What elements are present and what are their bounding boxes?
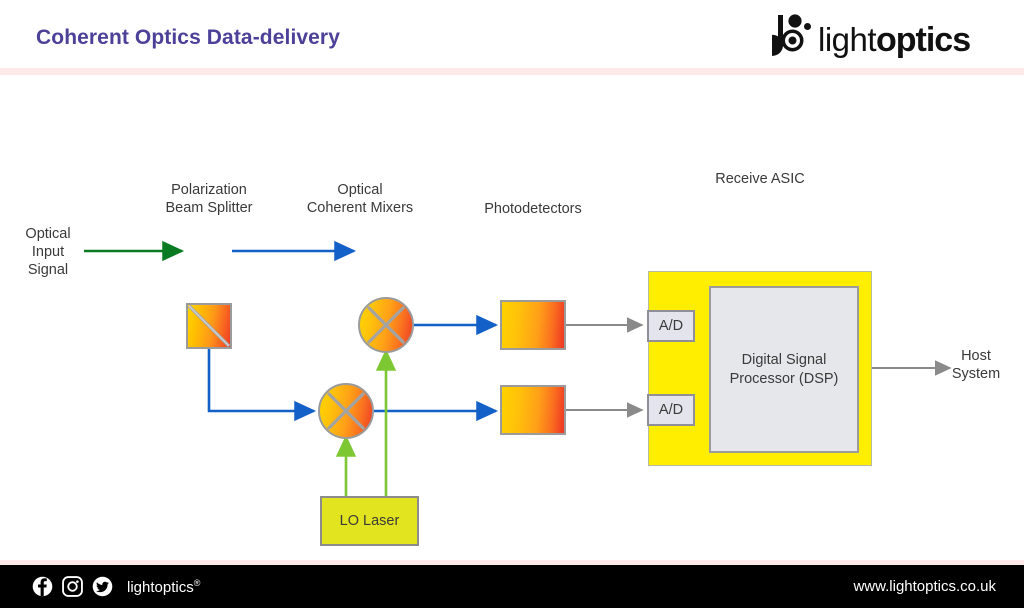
twitter-icon[interactable] — [92, 576, 113, 597]
label-optical-input: Optical Input Signal — [12, 225, 84, 279]
label-photodetectors: Photodetectors — [468, 200, 598, 218]
polarization-beam-splitter-block[interactable] — [186, 303, 232, 349]
optical-coherent-mixer-1[interactable] — [358, 297, 414, 353]
ad-converter-2-label: A/D — [659, 402, 683, 418]
edge-lower-branch — [209, 349, 314, 411]
lo-laser-label: LO Laser — [340, 513, 400, 529]
lightoptics-logo-svg: light optics — [772, 13, 1000, 59]
beam-splitter-diagonal-icon — [188, 305, 230, 347]
mixer-cross-icon — [318, 383, 374, 439]
footer-brand-mark: ® — [194, 578, 201, 588]
svg-text:light: light — [818, 21, 876, 58]
photodetector-2[interactable] — [500, 385, 566, 435]
label-polarization-beam-splitter: Polarization Beam Splitter — [139, 181, 279, 217]
header-divider — [0, 68, 1024, 75]
optical-coherent-mixer-2[interactable] — [318, 383, 374, 439]
footer-website-url[interactable]: www.lightoptics.co.uk — [853, 565, 996, 608]
dsp-block[interactable]: Digital Signal Processor (DSP) — [709, 286, 859, 453]
ad-converter-1-label: A/D — [659, 318, 683, 334]
instagram-icon[interactable] — [62, 576, 83, 597]
ad-converter-1[interactable]: A/D — [647, 310, 695, 342]
lo-laser-block[interactable]: LO Laser — [320, 496, 419, 546]
receive-asic-block[interactable]: Digital Signal Processor (DSP) — [648, 271, 872, 466]
label-optical-coherent-mixers: Optical Coherent Mixers — [285, 181, 435, 217]
label-receive-asic: Receive ASIC — [690, 170, 830, 188]
photodetector-1[interactable] — [500, 300, 566, 350]
svg-text:optics: optics — [876, 21, 970, 59]
ad-converter-2[interactable]: A/D — [647, 394, 695, 426]
label-host-system: Host System — [940, 347, 1012, 383]
brand-logo: light optics — [772, 12, 1000, 60]
diagram-canvas: Optical Input Signal Polarization Beam S… — [0, 75, 1024, 560]
facebook-icon[interactable] — [32, 576, 53, 597]
footer-brand-text: lightoptics — [127, 579, 194, 596]
page-title: Coherent Optics Data-delivery — [36, 26, 340, 50]
dsp-label: Digital Signal Processor (DSP) — [730, 351, 839, 389]
footer-brand: lightoptics® — [127, 578, 200, 596]
page-header: Coherent Optics Data-delivery light opti… — [0, 0, 1024, 70]
footer-social-group: lightoptics® — [32, 565, 200, 608]
page-footer: lightoptics® www.lightoptics.co.uk — [0, 565, 1024, 608]
slide-page: Coherent Optics Data-delivery light opti… — [0, 0, 1024, 608]
mixer-cross-icon — [358, 297, 414, 353]
